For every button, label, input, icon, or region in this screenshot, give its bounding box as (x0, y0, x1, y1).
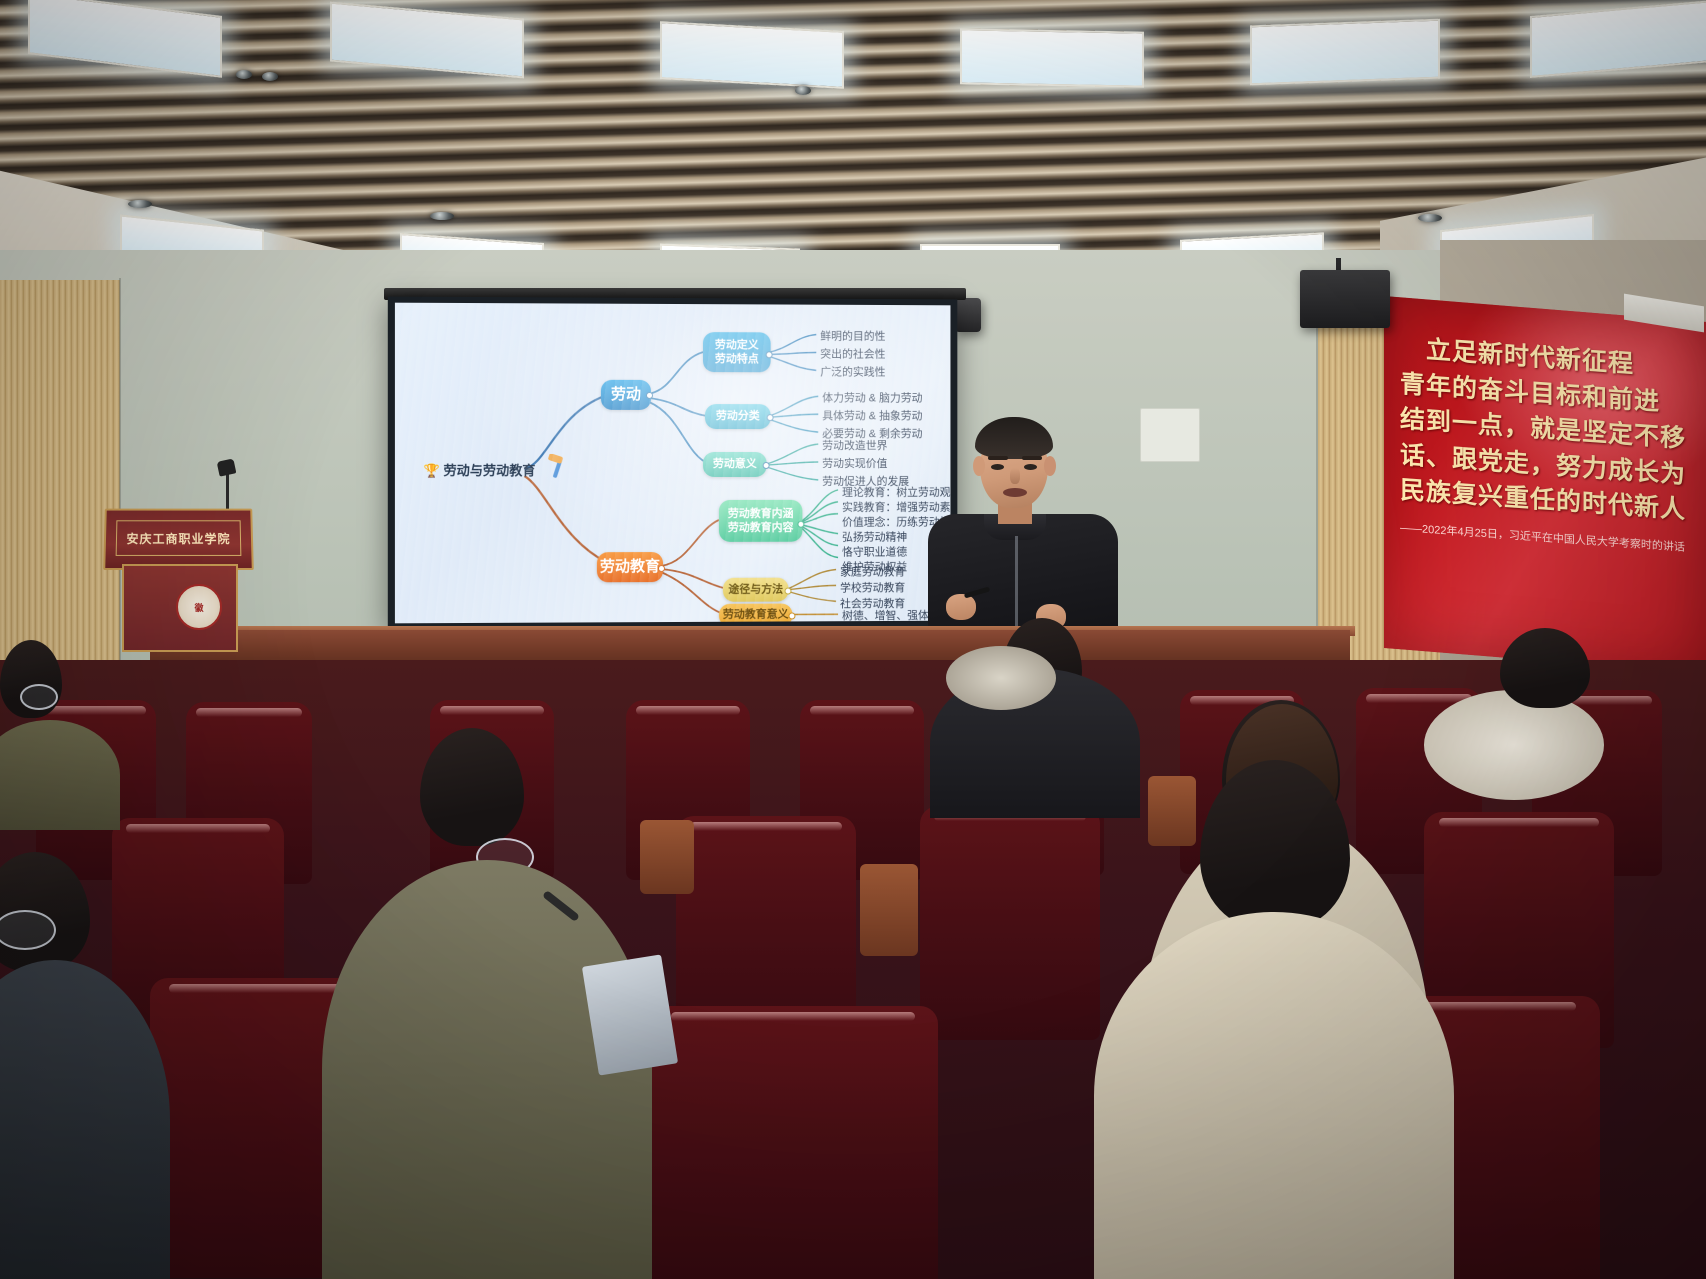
mindmap-node-label: 劳动分类 (716, 410, 760, 424)
mindmap-root-label: 劳动与劳动教育 (443, 463, 535, 478)
node-connector-dot (785, 588, 792, 595)
seat-back (920, 806, 1100, 1040)
presenter-eye (991, 464, 1004, 470)
seat-highlight (1439, 818, 1599, 827)
mindmap-node-label: 劳动意义 (713, 457, 757, 471)
seat-highlight (810, 706, 914, 715)
node-connector-dot (763, 462, 770, 469)
presenter-eyebrow (988, 456, 1008, 460)
audience-shoulder (1094, 912, 1454, 1279)
mindmap-node-label: 劳动 (611, 385, 641, 404)
lecture-hall-photo: 立足新时代新征程 青年的奋斗目标和前进 结到一点，就是坚定不移 话、跟党走，努力… (0, 0, 1706, 1279)
mindmap-leaf: 学校劳动教育 (840, 579, 905, 595)
presenter-hair (975, 417, 1053, 459)
ceiling-light-panel (1250, 19, 1440, 86)
wall-access-panel (1140, 408, 1200, 462)
ceiling-downlight (236, 70, 252, 79)
mindmap-node-label: 途径与方法 (728, 583, 783, 597)
venue-name: 安庆工商职业学院 (126, 530, 230, 547)
node-connector-dot (658, 565, 665, 572)
ceiling-downlight (430, 212, 454, 220)
mindmap-node-label-line2: 劳动特点 (715, 352, 759, 366)
ceiling-downlight (128, 200, 152, 208)
audience-hair (1500, 628, 1590, 708)
red-banner: 立足新时代新征程 青年的奋斗目标和前进 结到一点，就是坚定不移 话、跟党走，努力… (1384, 296, 1706, 674)
eyeglasses (20, 684, 58, 710)
mindmap-node-labor-significance: 劳动意义 (703, 452, 767, 477)
node-connector-dot (766, 351, 773, 358)
laptop-screen[interactable] (582, 954, 678, 1075)
seat-highlight (440, 706, 544, 715)
presenter-ear (1044, 456, 1056, 476)
mindmap-node-education-significance: 劳动教育意义 (719, 604, 793, 624)
mindmap-node-ways-methods: 途径与方法 (723, 578, 789, 602)
mindmap-node-labor-education: 劳动教育 (597, 552, 663, 582)
seat-highlight (196, 708, 302, 717)
audience-hair (420, 728, 524, 846)
seat-highlight (636, 706, 740, 715)
podium-body: 徽 (122, 564, 238, 652)
mindmap-node-label: 劳动教育意义 (723, 608, 789, 622)
node-connector-dot (797, 521, 804, 528)
mindmap-node-label-line1: 劳动定义 (715, 338, 759, 352)
mindmap-leaf: 突出的社会性 (820, 346, 885, 362)
seat-armrest (860, 864, 918, 956)
podium: 安庆工商职业学院 徽 (104, 508, 249, 643)
presenter-hand-left (946, 594, 976, 620)
seat-back (648, 1006, 938, 1279)
audience-head (1500, 628, 1590, 708)
presenter-eyebrow (1022, 456, 1042, 460)
banner-text-block: 立足新时代新征程 青年的奋斗目标和前进 结到一点，就是坚定不移 话、跟党走，努力… (1400, 331, 1706, 558)
ceiling-light-panel (660, 21, 844, 89)
mindmap-node-labor-classification: 劳动分类 (705, 404, 771, 429)
seat-armrest (640, 820, 694, 894)
seat-highlight (690, 822, 841, 831)
presenter-nose (1010, 468, 1020, 484)
presenter-eye (1024, 464, 1037, 470)
mindmap-root: 🏆 劳动与劳动教育 (423, 460, 535, 479)
projection-screen: 🏆 劳动与劳动教育 劳动 劳动定义 劳动特点 鲜明的目的性 突出的社会性 (395, 303, 951, 624)
mindmap-leaf: 弘扬劳动精神 (842, 529, 907, 545)
ceiling-downlight (262, 72, 278, 81)
presenter-mouth (1003, 488, 1027, 497)
audience-head (1200, 760, 1350, 930)
projection-screen-frame: 🏆 劳动与劳动教育 劳动 劳动定义 劳动特点 鲜明的目的性 突出的社会性 (388, 297, 958, 630)
mindmap-leaf: 具体劳动 & 抽象劳动 (822, 407, 922, 423)
seat-armrest (1148, 776, 1196, 846)
mindmap-leaf: 广泛的实践性 (820, 363, 885, 379)
presenter-ear (973, 456, 985, 476)
seat-highlight (671, 1012, 915, 1021)
ceiling-downlight (795, 86, 811, 95)
ceiling-light-panel (960, 28, 1144, 87)
ceiling-downlight (1418, 214, 1442, 222)
mindmap-leaf: 劳动改造世界 (822, 437, 887, 453)
school-emblem: 徽 (176, 584, 222, 630)
auditorium-seat[interactable] (920, 806, 1100, 1040)
mindmap-leaf: 恪守职业道德 (842, 543, 907, 559)
hammer-icon (547, 454, 569, 480)
mindmap-leaf: 家庭劳动教育 (840, 563, 905, 579)
wall-speaker-right (1300, 270, 1390, 328)
wall-wood-panel-left (0, 280, 120, 700)
fur-hood (946, 646, 1056, 710)
podium-nameplate: 安庆工商职业学院 (116, 520, 242, 556)
node-connector-dot (646, 392, 653, 399)
trophy-icon: 🏆 (423, 463, 439, 478)
mindmap-node-education-content: 劳动教育内涵 劳动教育内容 (719, 500, 802, 542)
mindmap-node-label: 劳动教育 (600, 557, 660, 576)
node-connector-dot (789, 612, 796, 619)
mindmap-leaf: 劳动实现价值 (822, 455, 887, 471)
wall-speaker-center (955, 298, 981, 332)
wall-seam (1316, 296, 1318, 678)
node-connector-dot (767, 414, 774, 421)
mindmap-node-label-line1: 劳动教育内涵 (728, 507, 794, 521)
school-emblem-text: 徽 (194, 601, 203, 614)
audience-hair (1200, 760, 1350, 930)
mindmap-leaf: 鲜明的目的性 (820, 328, 885, 344)
mindmap-node-labor-definition: 劳动定义 劳动特点 (703, 332, 771, 372)
podium-top: 安庆工商职业学院 (103, 509, 254, 570)
mindmap-node-labor: 劳动 (601, 380, 651, 410)
seat-highlight (126, 824, 270, 833)
auditorium-seat[interactable] (648, 1006, 938, 1279)
mindmap-node-label-line2: 劳动教育内容 (728, 521, 794, 535)
audience-head (420, 728, 524, 846)
microphone-stand (226, 470, 229, 510)
mindmap-leaf: 体力劳动 & 脑力劳动 (822, 389, 922, 405)
